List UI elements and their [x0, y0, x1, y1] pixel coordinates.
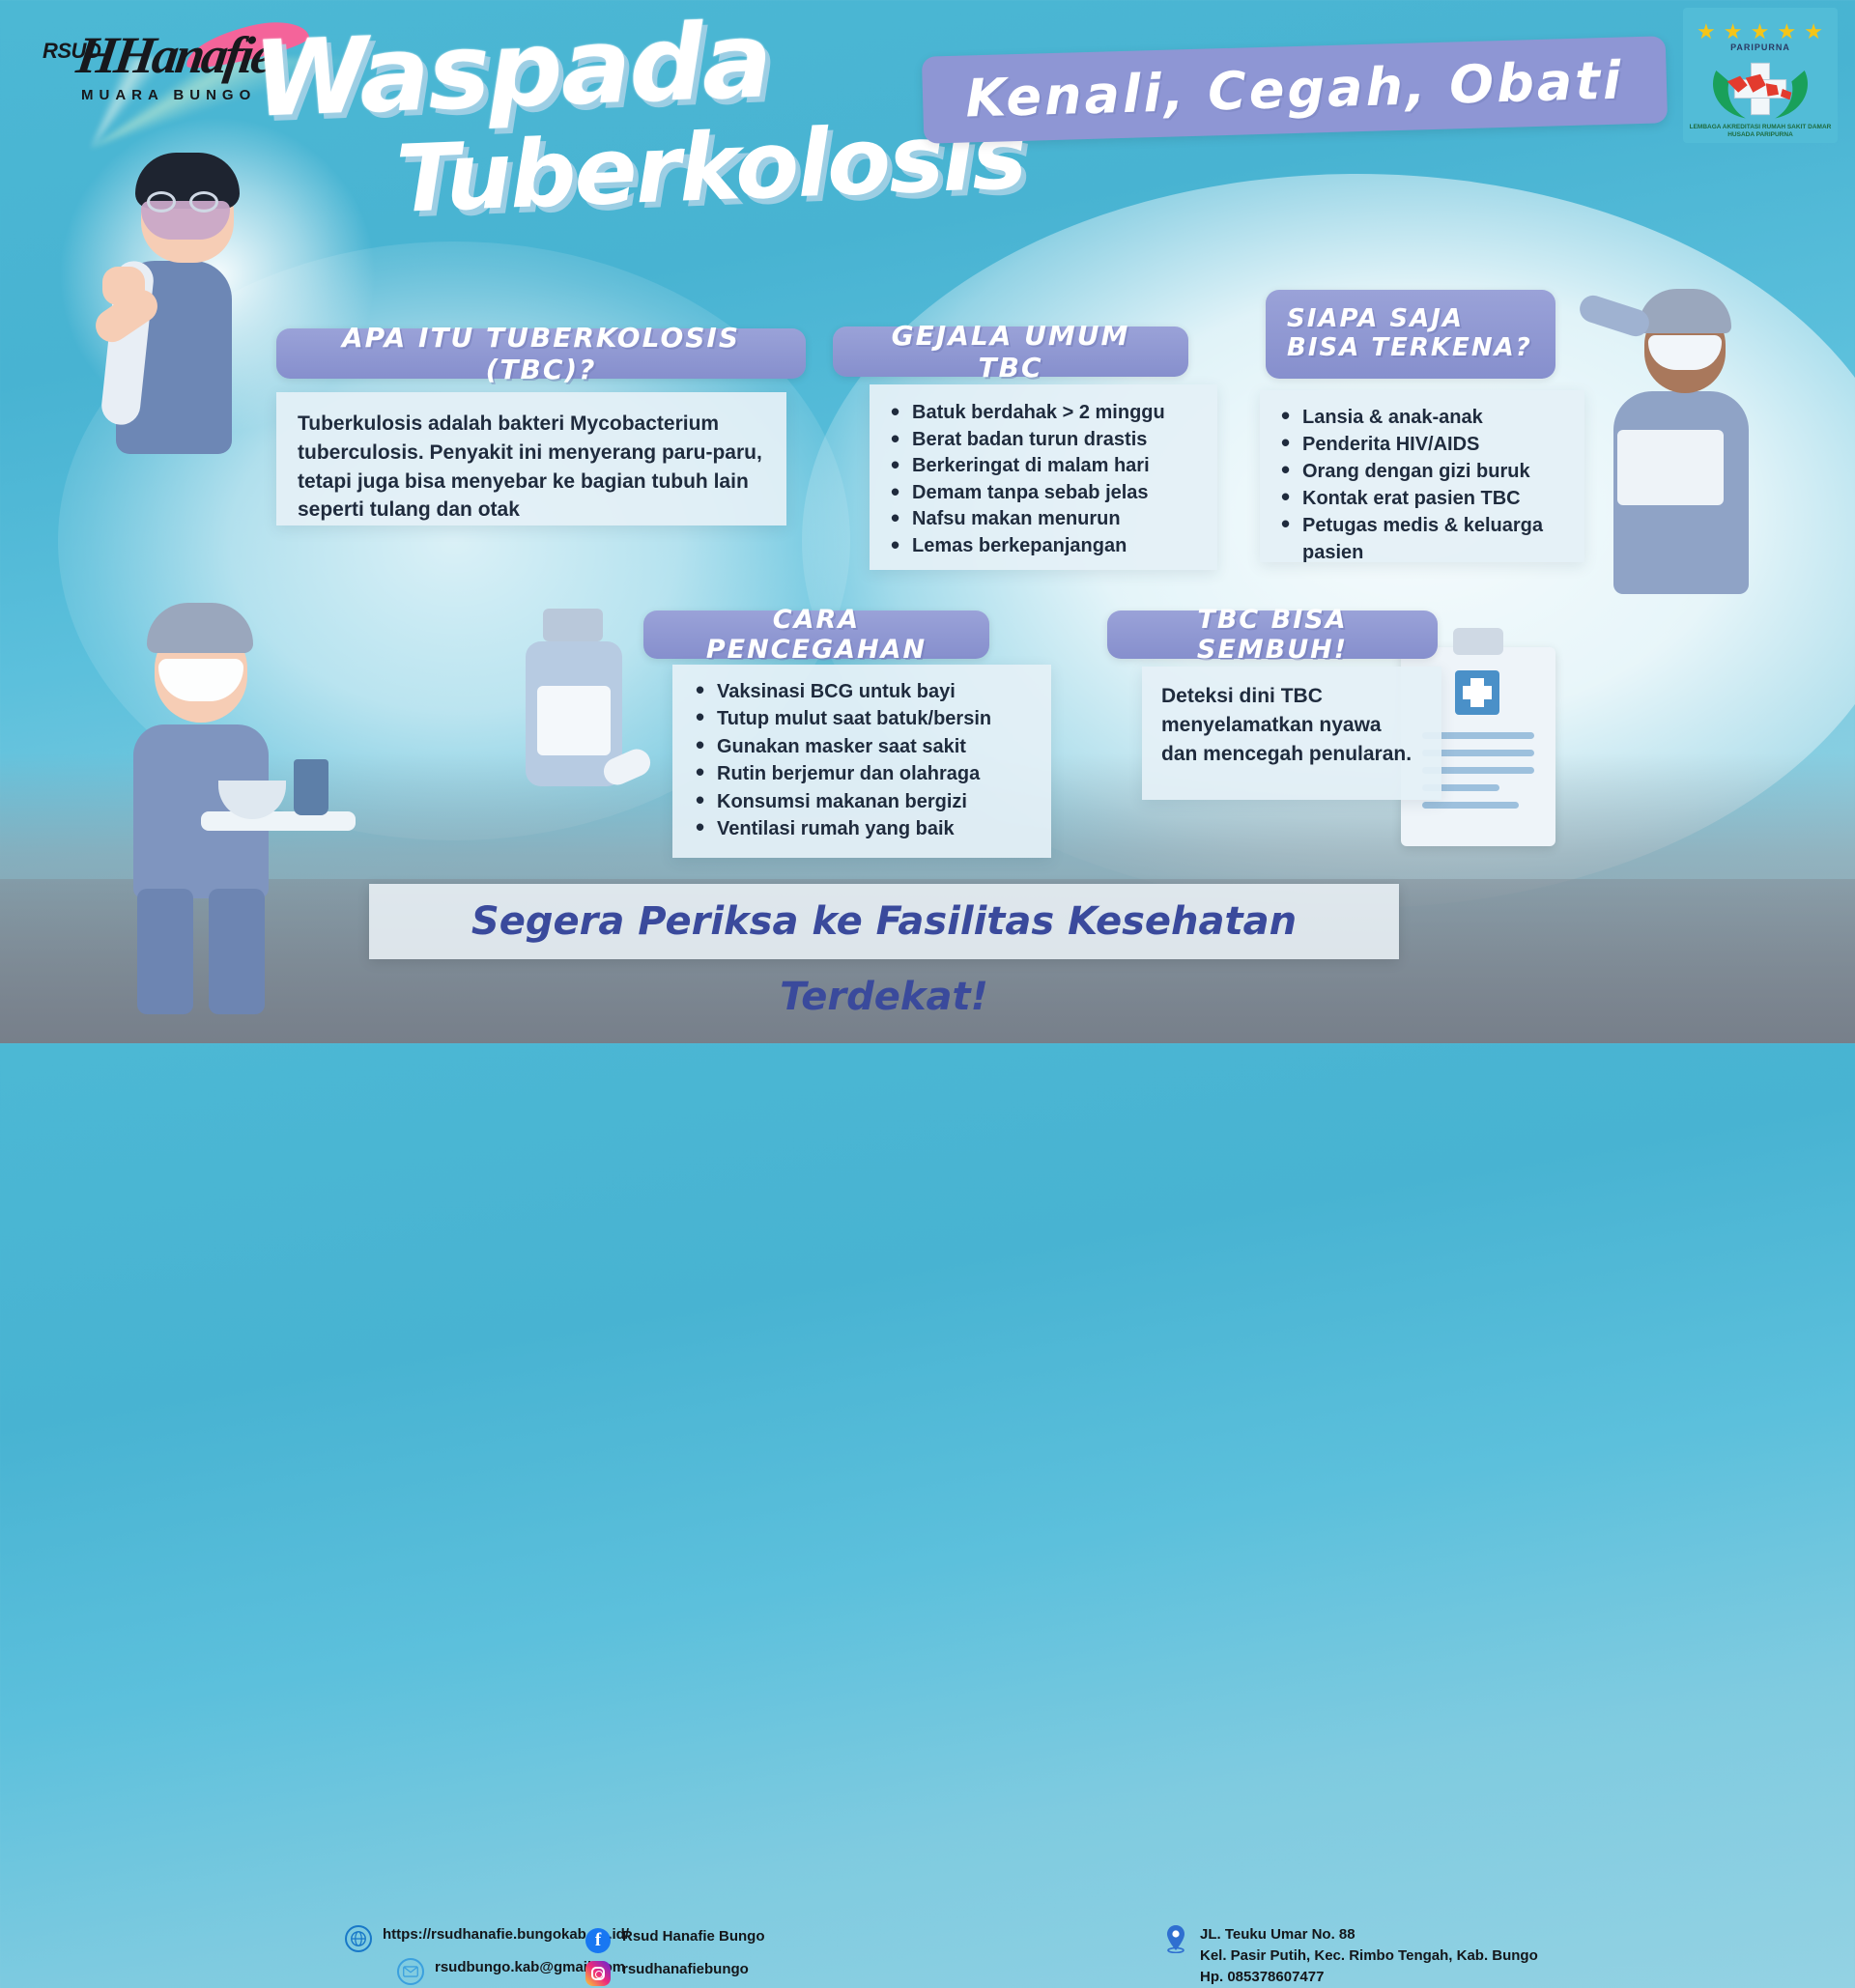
list-item: Lemas berkepanjangan	[887, 533, 1200, 560]
globe-icon-shape	[345, 1925, 372, 1952]
risk-groups-list: Lansia & anak-anak Penderita HIV/AIDS Or…	[1277, 404, 1567, 566]
section-heading-curable: TBC BISA SEMBUH!	[1107, 611, 1438, 659]
illustration-medicine-bottle	[502, 609, 657, 821]
instagram-icon-shape	[585, 1961, 611, 1986]
card-prevention: Vaksinasi BCG untuk bayi Tutup mulut saa…	[672, 665, 1051, 858]
card-symptoms: Batuk berdahak > 2 minggu Berat badan tu…	[870, 384, 1217, 570]
globe-icon	[344, 1924, 373, 1953]
list-item: Batuk berdahak > 2 minggu	[887, 400, 1200, 427]
instagram-icon	[584, 1959, 613, 1988]
section-heading-prevention: CARA PENCEGAHAN	[643, 611, 989, 659]
location-pin-icon	[1161, 1924, 1190, 1953]
accreditation-badge: ★ ★ ★ ★ ★ PARIPURNA LEMBAGA AKREDITASI R…	[1683, 8, 1838, 143]
section-heading-definition: APA ITU TUBERKOLOSIS (TBC)?	[276, 328, 806, 379]
email-icon-shape	[397, 1958, 424, 1985]
card-risk-groups: Lansia & anak-anak Penderita HIV/AIDS Or…	[1260, 390, 1584, 562]
logo-hospital-name: HHanafie	[73, 25, 276, 85]
list-item: Penderita HIV/AIDS	[1277, 431, 1567, 458]
curable-heading-text: TBC BISA SEMBUH!	[1128, 605, 1416, 665]
list-item: Tutup mulut saat batuk/bersin	[692, 705, 1032, 732]
definition-heading-text: APA ITU TUBERKOLOSIS (TBC)?	[298, 322, 785, 385]
list-item: Ventilasi rumah yang baik	[692, 815, 1032, 842]
list-item: Lansia & anak-anak	[1277, 404, 1567, 431]
illustration-nurse-with-tray	[104, 570, 327, 956]
risk-heading-line-1: SIAPA SAJA	[1287, 305, 1464, 334]
list-item: Rutin berjemur dan olahraga	[692, 760, 1032, 787]
footer-instagram[interactable]: rsudhanafiebungo	[584, 1959, 749, 1988]
section-heading-risk-groups: SIAPA SAJA BISA TERKENA?	[1266, 290, 1555, 379]
symptoms-list: Batuk berdahak > 2 minggu Berat badan tu…	[887, 400, 1200, 560]
accreditation-stars-icon: ★ ★ ★ ★ ★	[1683, 19, 1838, 44]
list-item: Berkeringat di malam hari	[887, 453, 1200, 480]
footer-facebook[interactable]: f Rsud Hanafie Bungo	[584, 1926, 765, 1955]
email-icon	[396, 1957, 425, 1986]
list-item: Berat badan turun drastis	[887, 427, 1200, 454]
list-item: Orang dengan gizi buruk	[1277, 458, 1567, 485]
logo-location-text: MUARA BUNGO	[81, 87, 256, 103]
section-heading-symptoms: GEJALA UMUM TBC	[833, 327, 1188, 377]
list-item: Konsumsi makanan bergizi	[692, 788, 1032, 815]
accreditation-emblem-icon	[1704, 50, 1816, 128]
footer-address: JL. Teuku Umar No. 88 Kel. Pasir Putih, …	[1161, 1924, 1538, 1987]
facebook-icon: f	[584, 1926, 613, 1955]
list-item: Kontak erat pasien TBC	[1277, 485, 1567, 512]
list-item: Vaksinasi BCG untuk bayi	[692, 678, 1032, 705]
address-line-3-text: Hp. 085378607477	[1200, 1967, 1538, 1988]
card-curable: Deteksi dini TBC menyelamatkan nyawa dan…	[1142, 667, 1441, 800]
instagram-handle-text: rsudhanafiebungo	[622, 1959, 749, 1980]
facebook-icon-shape: f	[585, 1928, 611, 1953]
address-line-2-text: Kel. Pasir Putih, Kec. Rimbo Tengah, Kab…	[1200, 1945, 1538, 1967]
curable-body-text: Deteksi dini TBC menyelamatkan nyawa dan…	[1161, 682, 1422, 770]
address-line-1-text: JL. Teuku Umar No. 88	[1200, 1924, 1538, 1945]
list-item: Demam tanpa sebab jelas	[887, 480, 1200, 507]
list-item: Gunakan masker saat sakit	[692, 733, 1032, 760]
footer: https://rsudhanafie.bungokab.go.id/ rsud…	[0, 951, 1855, 1043]
poster-root: RSUD HHanafie MUARA BUNGO ★ ★ ★ ★ ★ PARI…	[0, 0, 1855, 1043]
prevention-list: Vaksinasi BCG untuk bayi Tutup mulut saa…	[692, 678, 1032, 842]
list-item: Petugas medis & keluarga pasien	[1277, 512, 1567, 566]
facebook-handle-text: Rsud Hanafie Bungo	[622, 1926, 765, 1947]
risk-heading-line-2: BISA TERKENA?	[1287, 334, 1532, 363]
accreditation-body-label: LEMBAGA AKREDITASI RUMAH SAKIT DAMAR HUS…	[1683, 124, 1838, 139]
prevention-heading-text: CARA PENCEGAHAN	[665, 605, 968, 665]
illustration-doctor-pointing	[1584, 275, 1787, 594]
symptoms-heading-text: GEJALA UMUM TBC	[854, 320, 1167, 383]
list-item: Nafsu makan menurun	[887, 506, 1200, 533]
card-definition: Tuberkulosis adalah bakteri Mycobacteriu…	[276, 392, 786, 525]
definition-body-text: Tuberkulosis adalah bakteri Mycobacteriu…	[298, 410, 765, 525]
hospital-logo: RSUD HHanafie MUARA BUNGO	[21, 14, 263, 105]
call-to-action-banner: Segera Periksa ke Fasilitas Kesehatan Te…	[369, 884, 1399, 959]
